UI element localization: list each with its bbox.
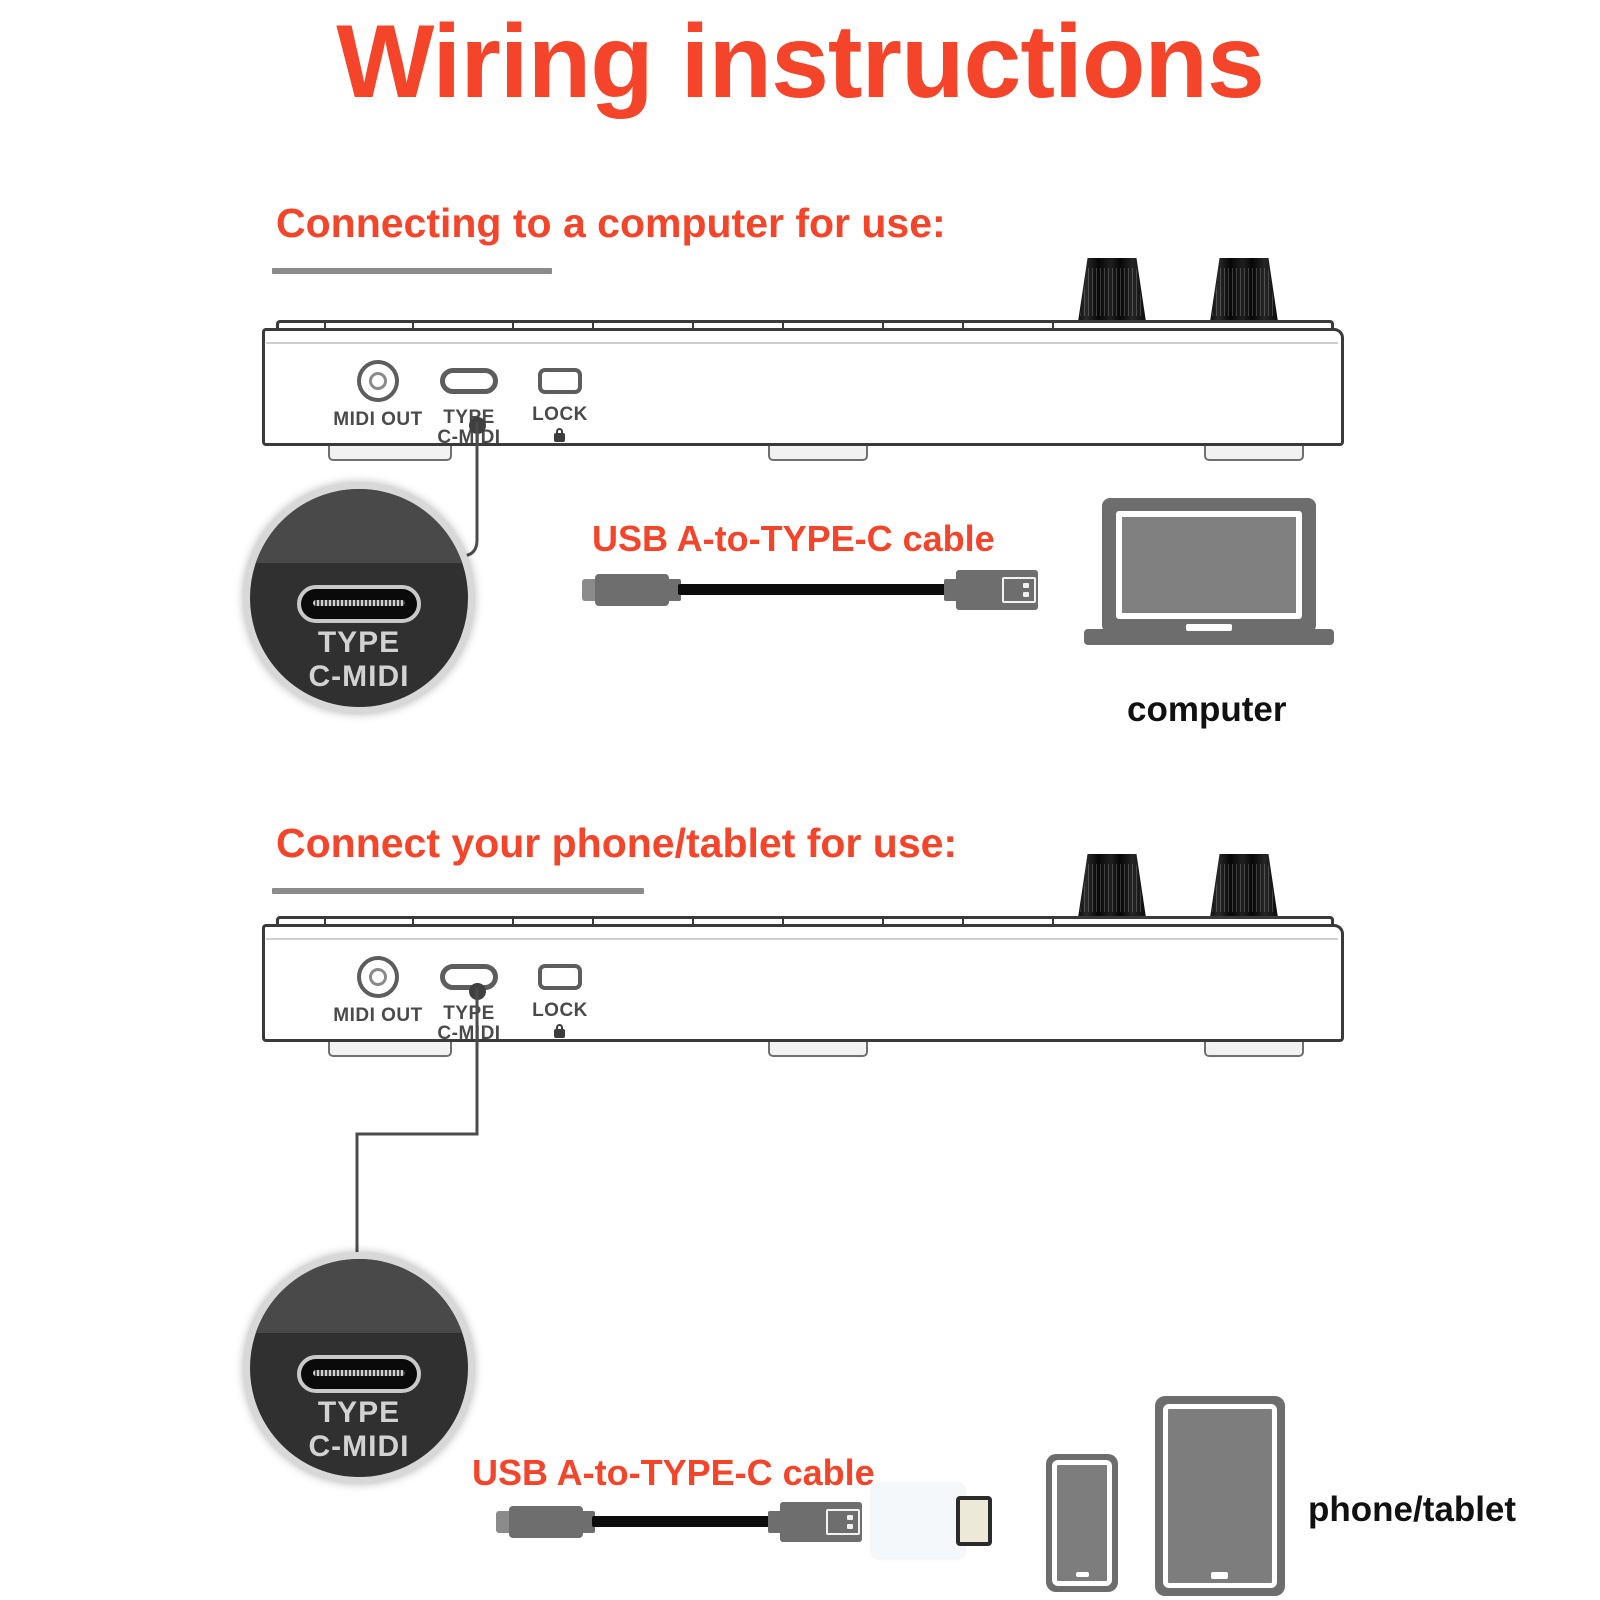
adapter-body-icon	[872, 1484, 964, 1558]
cable-usb-a-tip-icon	[826, 1509, 860, 1535]
magnifier-caption: TYPE C-MIDI	[250, 1396, 468, 1463]
phone-illustration	[1046, 1454, 1118, 1592]
phone-screen-icon	[1052, 1460, 1112, 1586]
tablet-home-button-icon	[1211, 1572, 1228, 1579]
usb-c-port-closeup-icon	[297, 1355, 421, 1393]
usb-a-to-type-c-cable-2	[496, 1500, 856, 1544]
keyboard-foot	[1204, 1042, 1304, 1057]
tablet-screen-icon	[1163, 1404, 1277, 1588]
section-phone-tablet: Connect your phone/tablet for use: MIDI …	[0, 0, 1600, 1600]
keyboard-foot	[768, 1042, 868, 1057]
usb-c-port-magnifier-2: TYPE C-MIDI	[243, 1252, 475, 1484]
cable-wire	[592, 1516, 774, 1527]
usb-otg-type-c-adapter	[872, 1482, 1002, 1562]
tablet-illustration	[1155, 1396, 1285, 1596]
knob-ridges-icon	[1212, 864, 1276, 912]
phone-home-button-icon	[1076, 1572, 1089, 1577]
phone-tablet-label: phone/tablet	[1308, 1490, 1516, 1530]
lock-port-icon[interactable]	[538, 964, 582, 990]
section-heading-phone-tablet: Connect your phone/tablet for use:	[276, 820, 957, 867]
lock-icon	[554, 1029, 565, 1038]
adapter-type-c-tip-icon	[956, 1496, 992, 1546]
cable-label-phone-tablet: USB A-to-TYPE-C cable	[472, 1452, 875, 1494]
knob-ridges-icon	[1080, 864, 1144, 912]
keyboard-bevel-line	[266, 938, 1338, 940]
port-label-lock: LOCK	[498, 1001, 622, 1021]
magnifier-highlight-band	[250, 1259, 468, 1333]
cable-type-c-connector-icon	[509, 1506, 583, 1538]
callout-leader-line-2	[330, 986, 510, 1276]
